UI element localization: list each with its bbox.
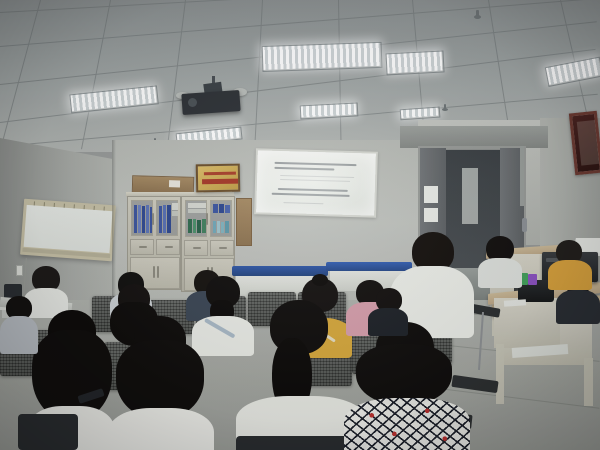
door-closer xyxy=(520,146,524,206)
attendee xyxy=(478,236,522,286)
projector-lens-icon xyxy=(188,98,197,107)
ceiling-beam xyxy=(400,126,548,148)
cabinet-glass-door[interactable] xyxy=(185,200,207,237)
attendee xyxy=(368,288,408,334)
ceiling-light-panel xyxy=(400,107,439,119)
projection-screen xyxy=(254,148,378,217)
cabinet-glass-door[interactable] xyxy=(131,200,153,236)
framed-wall-certificate xyxy=(569,111,600,176)
ceiling-light-panel xyxy=(300,103,357,118)
attendee xyxy=(0,296,38,354)
cabinet-glass-door[interactable] xyxy=(210,200,232,237)
cabinet-glass-door[interactable] xyxy=(156,200,178,236)
sprinkler-icon xyxy=(474,10,481,21)
attendee xyxy=(548,240,592,288)
whiteboard xyxy=(20,199,116,262)
corridor-light xyxy=(462,168,478,224)
door-notice xyxy=(424,208,438,222)
ceiling-light-panel xyxy=(386,51,443,74)
ceiling-light-panel xyxy=(262,42,381,70)
handbag xyxy=(18,414,78,450)
slide-content xyxy=(256,150,376,215)
patterned-shirt xyxy=(344,398,470,450)
wall-phone xyxy=(16,265,23,276)
gold-award-plaque xyxy=(196,164,240,193)
projector xyxy=(182,76,244,118)
stacked-box xyxy=(236,198,252,246)
door-handle-icon[interactable] xyxy=(522,218,527,232)
sprinkler-icon xyxy=(442,104,448,113)
room-photo xyxy=(0,0,600,450)
attendee xyxy=(108,316,214,450)
door-notice xyxy=(424,186,438,203)
attendee xyxy=(344,322,470,450)
